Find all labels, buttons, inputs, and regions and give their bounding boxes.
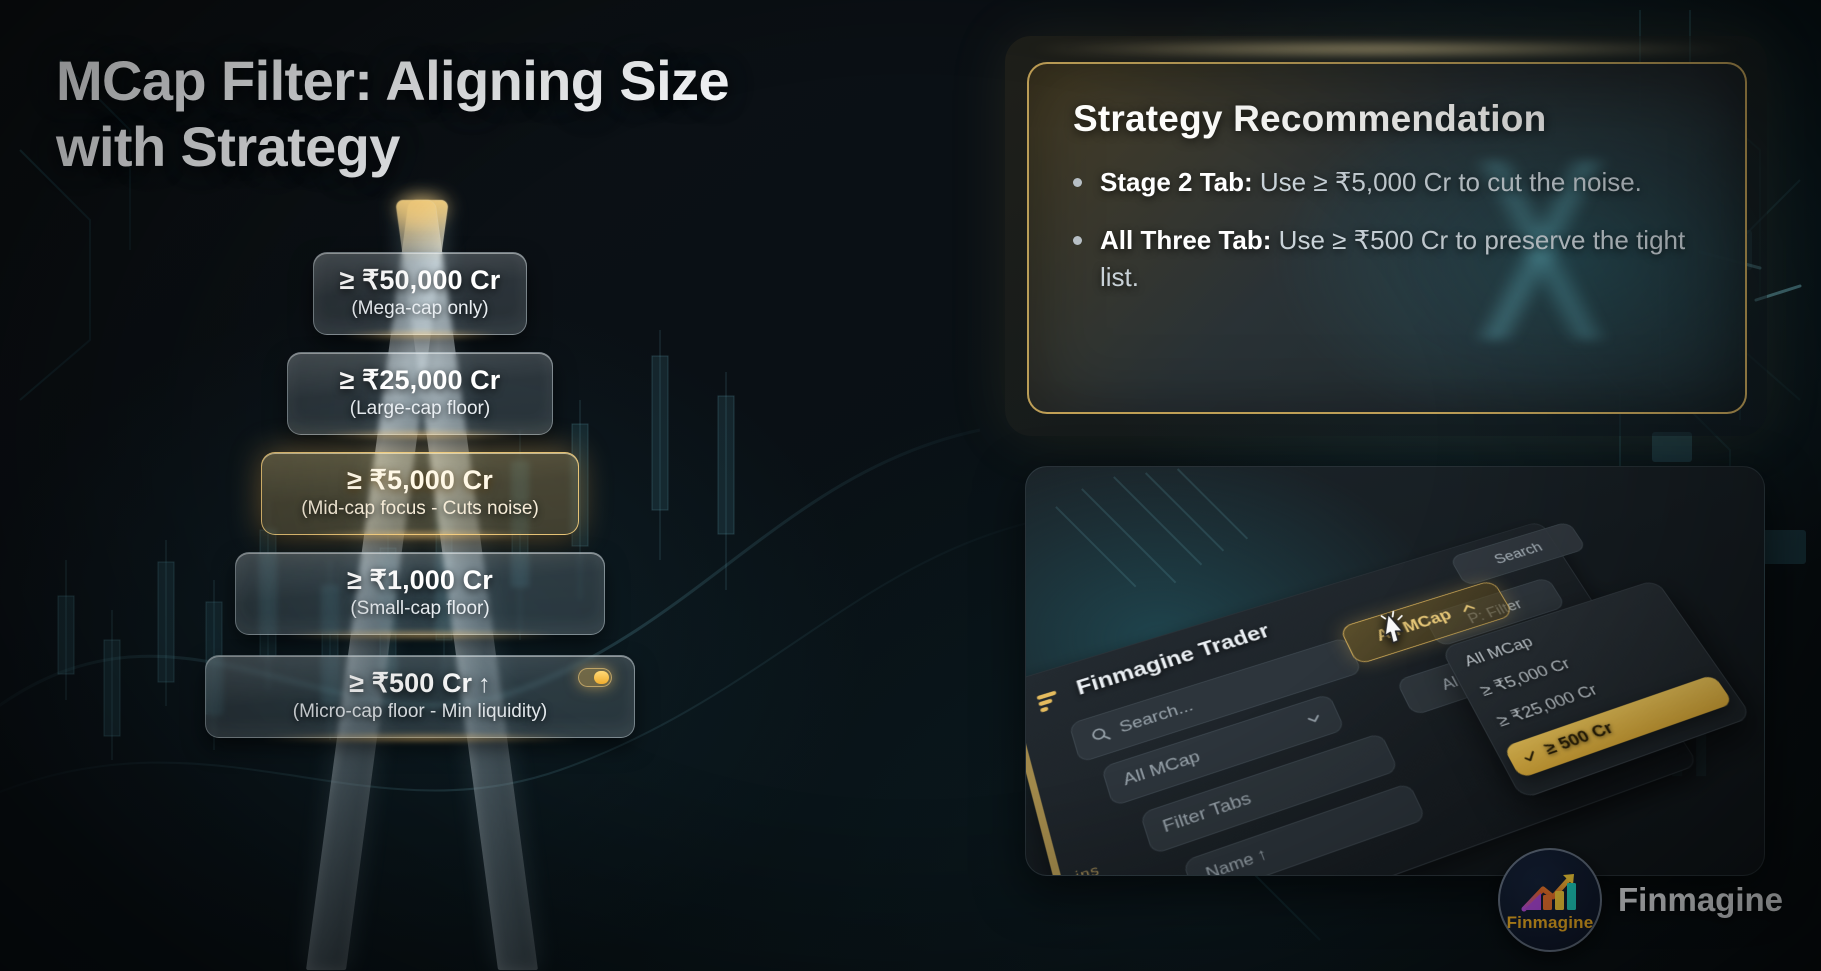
ladder-step-caption: (Micro-cap floor - Min liquidity): [222, 701, 618, 723]
ladder-step-caption: (Mega-cap only): [330, 298, 510, 320]
slide-canvas: MCap Filter: Aligning Size with Strategy…: [0, 0, 1821, 971]
chevron-down-icon: [1304, 710, 1324, 728]
ladder-step-caption: (Mid-cap focus - Cuts noise): [278, 498, 562, 520]
tab-label: Search: [1491, 539, 1545, 567]
recommendation-item-text: Stage 2 Tab: Use ≥ ₹5,000 Cr to cut the …: [1100, 164, 1642, 200]
ladder-step-amount: ≥ ₹1,000 Cr: [252, 565, 588, 596]
app-mockup: Finmagine Trader Search... All MCap Filt…: [1025, 466, 1765, 876]
ladder-step-small[interactable]: ≥ ₹1,000 Cr (Small-cap floor): [235, 552, 605, 635]
ladder-step-amount-row: ≥ ₹500 Cr↑: [222, 668, 618, 699]
ladder-step-mid[interactable]: ≥ ₹5,000 Cr (Mid-cap focus - Cuts noise): [261, 452, 579, 535]
arrow-up-icon: ↑: [478, 670, 491, 698]
chevron-up-icon: [1457, 600, 1479, 617]
recommendation-item-body: Use ≥ ₹5,000 Cr to cut the noise.: [1253, 167, 1642, 197]
mcap-ladder: ≥ ₹50,000 Cr (Mega-cap only) ≥ ₹25,000 C…: [130, 200, 710, 970]
recommendation-item-label: Stage 2 Tab:: [1100, 167, 1253, 197]
logo-wordmark: Finmagine: [1507, 913, 1594, 933]
ladder-step-mega[interactable]: ≥ ₹50,000 Cr (Mega-cap only): [313, 252, 527, 335]
recommendation-item-text: All Three Tab: Use ≥ ₹500 Cr to preserve…: [1100, 222, 1705, 295]
bullet-dot-icon: [1073, 178, 1082, 187]
ladder-step-large[interactable]: ≥ ₹25,000 Cr (Large-cap floor): [287, 352, 553, 435]
recommendation-item: All Three Tab: Use ≥ ₹500 Cr to preserve…: [1073, 222, 1705, 295]
recommendation-item-label: All Three Tab:: [1100, 225, 1271, 255]
recommendation-card: Strategy Recommendation Stage 2 Tab: Use…: [1027, 62, 1747, 414]
ladder-step-caption: (Large-cap floor): [304, 398, 536, 420]
brand-badge: Finmagine Finmagine: [1498, 848, 1783, 952]
ladder-steps: ≥ ₹50,000 Cr (Mega-cap only) ≥ ₹25,000 C…: [130, 200, 710, 970]
ladder-step-amount: ≥ ₹5,000 Cr: [278, 465, 562, 496]
check-icon: [1519, 747, 1541, 765]
ladder-step-amount: ≥ ₹50,000 Cr: [330, 265, 510, 296]
brand-name: Finmagine: [1618, 881, 1783, 919]
finmagine-logo-mark: Finmagine: [1498, 848, 1602, 952]
ladder-step-amount: ≥ ₹500 Cr: [349, 668, 472, 698]
ladder-step-caption: (Small-cap floor): [252, 598, 588, 620]
page-title: MCap Filter: Aligning Size with Strategy: [56, 48, 816, 179]
bullet-dot-icon: [1073, 236, 1082, 245]
recommendation-title: Strategy Recommendation: [1073, 98, 1705, 140]
ladder-step-micro[interactable]: ≥ ₹500 Cr↑ (Micro-cap floor - Min liquid…: [205, 655, 635, 738]
recommendation-item: Stage 2 Tab: Use ≥ ₹5,000 Cr to cut the …: [1073, 164, 1705, 200]
ladder-step-amount: ≥ ₹25,000 Cr: [304, 365, 536, 396]
recommendation-list: Stage 2 Tab: Use ≥ ₹5,000 Cr to cut the …: [1073, 164, 1705, 295]
dropdown-item-label: ≥ 500 Cr: [1541, 719, 1617, 760]
recommendation-card-outer: Strategy Recommendation Stage 2 Tab: Use…: [1005, 36, 1767, 436]
search-icon: [1088, 724, 1112, 746]
micro-cap-toggle[interactable]: [578, 668, 612, 687]
growth-chart-icon: [1519, 869, 1581, 915]
